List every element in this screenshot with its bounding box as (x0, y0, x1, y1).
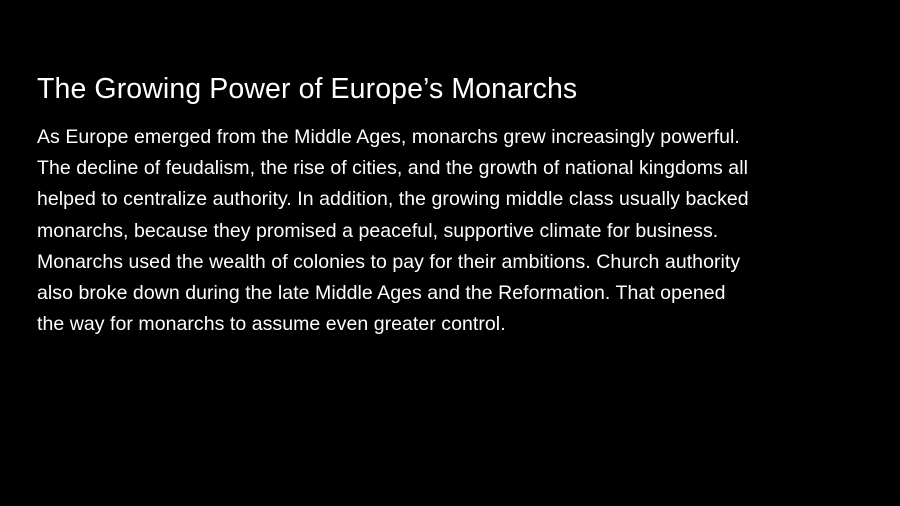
body-line: monarchs, because they promised a peacef… (37, 216, 865, 247)
body-line: As Europe emerged from the Middle Ages, … (37, 122, 865, 153)
slide-title: The Growing Power of Europe’s Monarchs (37, 72, 863, 106)
body-line: also broke down during the late Middle A… (37, 278, 865, 309)
body-line: the way for monarchs to assume even grea… (37, 309, 865, 340)
body-line: helped to centralize authority. In addit… (37, 184, 865, 215)
body-line: Monarchs used the wealth of colonies to … (37, 247, 865, 278)
presentation-slide: The Growing Power of Europe’s Monarchs A… (0, 0, 900, 506)
body-line: The decline of feudalism, the rise of ci… (37, 153, 865, 184)
slide-body-text: As Europe emerged from the Middle Ages, … (37, 122, 865, 340)
